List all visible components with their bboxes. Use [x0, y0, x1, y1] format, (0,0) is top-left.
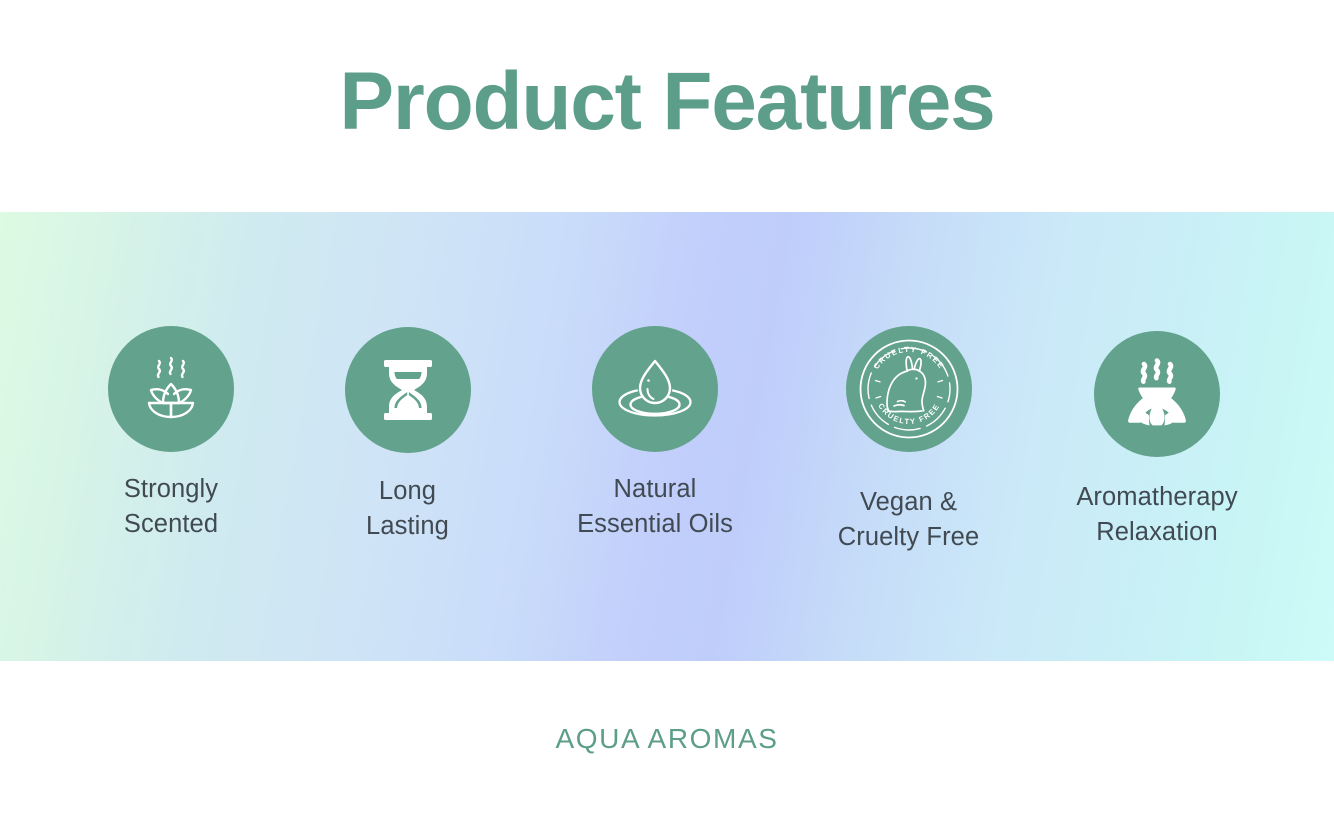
- page-title: Product Features: [339, 61, 994, 151]
- feature-label: Strongly Scented: [124, 472, 218, 541]
- brand-name: AQUA AROMAS: [556, 723, 779, 755]
- feature-item-aromatherapy-relaxation[interactable]: Aromatherapy Relaxation: [1042, 331, 1272, 549]
- feature-item-long-lasting[interactable]: Long Lasting: [299, 327, 517, 543]
- feature-list: Strongly Scented: [0, 212, 1334, 661]
- cruelty-free-rabbit-badge-icon: CRUELTY FREE CRUELTY FREE: [846, 326, 972, 452]
- feature-label: Natural Essential Oils: [577, 472, 733, 541]
- feature-item-strongly-scented[interactable]: Strongly Scented: [62, 326, 280, 541]
- feature-label: Aromatherapy Relaxation: [1076, 480, 1237, 549]
- slide-product-features: Product Features: [0, 0, 1334, 825]
- feature-band: Strongly Scented: [0, 212, 1334, 661]
- aroma-diffuser-lotus-icon: [1094, 331, 1220, 457]
- hourglass-icon: [345, 327, 471, 453]
- feature-label: Vegan & Cruelty Free: [838, 485, 980, 554]
- header: Product Features: [0, 0, 1334, 212]
- feature-item-vegan-cruelty-free[interactable]: CRUELTY FREE CRUELTY FREE Vegan & Cruelt…: [794, 326, 1024, 554]
- lotus-steam-icon: [108, 326, 234, 452]
- footer: AQUA AROMAS: [0, 661, 1334, 825]
- water-droplet-ripple-icon: [592, 326, 718, 452]
- feature-label: Long Lasting: [366, 474, 449, 543]
- feature-item-natural-essential-oils[interactable]: Natural Essential Oils: [535, 326, 775, 541]
